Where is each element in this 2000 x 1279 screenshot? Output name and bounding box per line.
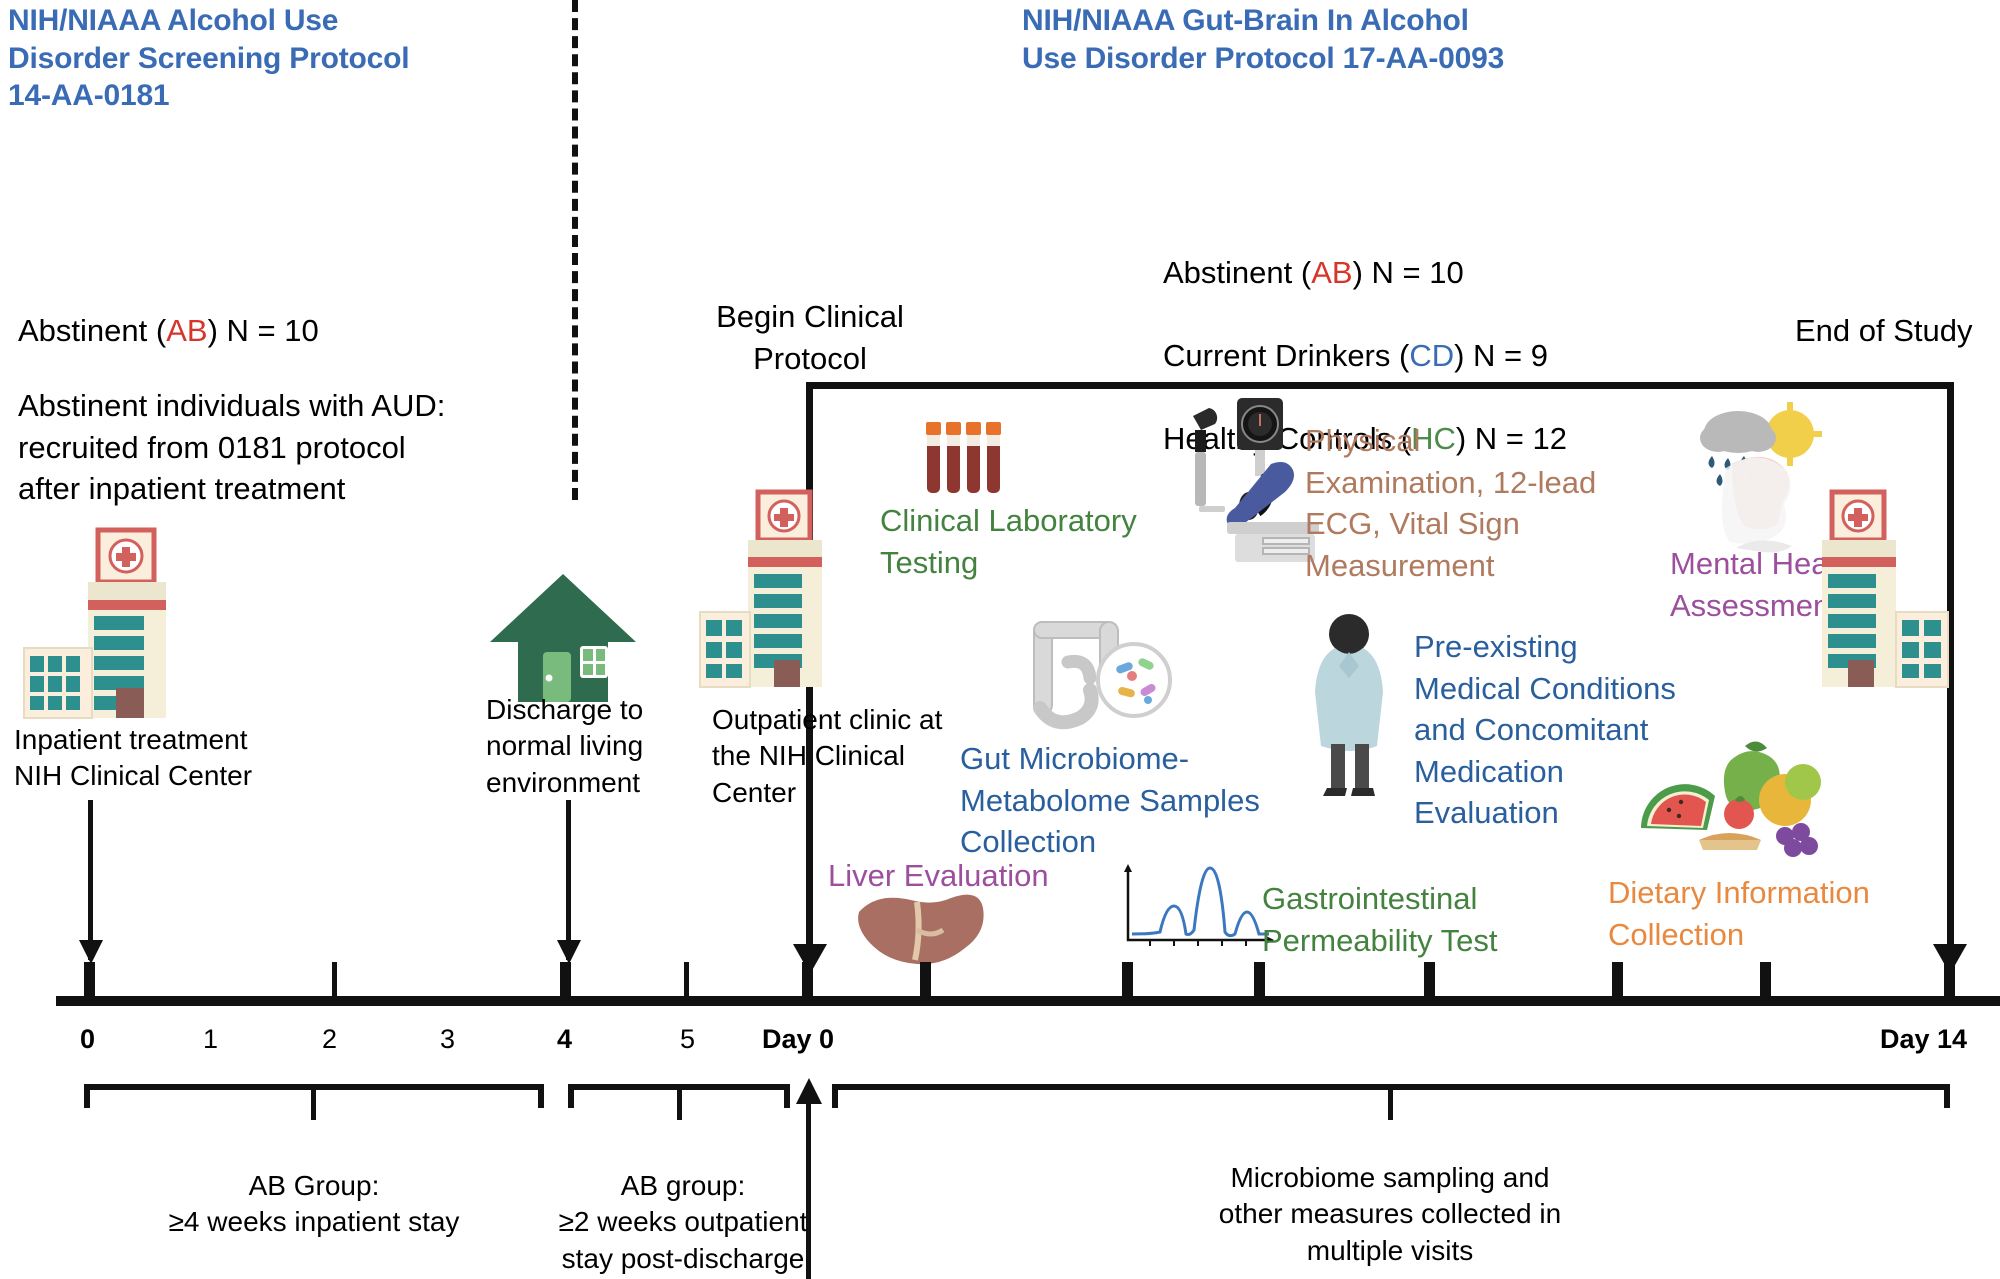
bracket-end-ab-outpatient-right	[784, 1084, 790, 1108]
liver-icon	[855, 890, 985, 970]
axis-tick-minor	[332, 962, 337, 996]
chromatogram-peaks-icon	[1120, 862, 1270, 952]
discharge-arrowhead	[557, 940, 581, 964]
assessment-label-clinical-laboratory-testing: Clinical Laboratory Testing	[880, 500, 1170, 583]
bracket-end-microbiome-left	[832, 1084, 838, 1108]
axis-tick-major	[1424, 962, 1435, 996]
right-protocol-title: NIH/NIAAA Gut-Brain In Alcohol Use Disor…	[1022, 2, 1742, 77]
left-cohort-line: Abstinent (AB) N = 10	[18, 268, 319, 351]
bracket-end-ab-inpatient-left	[84, 1084, 90, 1108]
inpatient-site-label: Inpatient treatment NIH Clinical Center	[14, 722, 344, 795]
bracket-label-microbiome: Microbiome sampling and other measures c…	[1160, 1160, 1620, 1269]
end-of-study-label: End of Study	[1795, 310, 1973, 352]
bracket-label-ab-outpatient: AB group: ≥2 weeks outpatient stay post-…	[540, 1168, 826, 1277]
blood-collection-tubes-icon	[920, 418, 1010, 508]
assessment-label-dietary-information-collection: Dietary Information Collection	[1608, 872, 1928, 955]
cohort-row-ab: Abstinent (AB) N = 10	[1163, 210, 1567, 293]
axis-tick-minor	[684, 962, 689, 996]
ab-tag: AB	[1311, 255, 1352, 290]
cohort-prefix: Abstinent (	[1163, 255, 1311, 290]
cohort-suffix: ) N = 9	[1454, 338, 1548, 373]
assessment-label-gastrointestinal-permeability-test: Gastrointestinal Permeability Test	[1262, 878, 1542, 961]
discharge-site-label: Discharge to normal living environment	[486, 692, 706, 801]
axis-tick-major	[1944, 962, 1955, 996]
axis-tick-major	[920, 962, 931, 996]
hospital-building-icon	[700, 492, 880, 692]
assessment-label-physical-examination: Physical Examination, 12-lead ECG, Vital…	[1305, 420, 1615, 586]
exam-chair-otoscope-icon	[1175, 398, 1325, 563]
bracket-top-bar	[806, 382, 1954, 389]
axis-label-4: 4	[557, 1024, 572, 1055]
left-cohort-suffix: ) N = 10	[208, 313, 319, 348]
left-protocol-description: Abstinent individuals with AUD: recruite…	[18, 385, 578, 510]
fruits-vegetables-icon	[1635, 740, 1825, 860]
bracket-stem-ab-outpatient	[677, 1090, 682, 1120]
discharge-arrow-stem	[566, 800, 571, 960]
hospital-building-icon	[1790, 492, 1968, 692]
hospital-building-icon	[20, 530, 220, 720]
cohort-prefix: Current Drinkers (	[1163, 338, 1409, 373]
axis-label-5: 5	[680, 1024, 695, 1055]
axis-label-day-14: Day 14	[1880, 1024, 1967, 1055]
axis-label-day-0: Day 0	[762, 1024, 834, 1055]
bracket-end-ab-outpatient-left	[568, 1084, 574, 1108]
intestine-microbes-icon	[1022, 608, 1182, 738]
inpatient-arrow-stem	[88, 800, 93, 960]
axis-label-2: 2	[322, 1024, 337, 1055]
axis-tick-major	[1122, 962, 1133, 996]
outpatient-site-label: Outpatient clinic at the NIH Clinical Ce…	[712, 702, 952, 811]
day-0-up-arrowhead	[796, 1078, 822, 1104]
axis-label-1: 1	[203, 1024, 218, 1055]
cd-tag: CD	[1409, 338, 1454, 373]
inpatient-arrowhead	[79, 940, 103, 964]
ab-tag: AB	[166, 313, 207, 348]
bracket-label-ab-inpatient: AB Group: ≥4 weeks inpatient stay	[104, 1168, 524, 1241]
assessment-label-gut-microbiome-metabolome: Gut Microbiome- Metabolome Samples Colle…	[960, 738, 1280, 863]
axis-tick-major	[802, 962, 813, 996]
house-icon	[488, 568, 638, 708]
timeline-axis	[56, 996, 2000, 1006]
bracket-end-microbiome-right	[1944, 1084, 1950, 1108]
cohort-suffix: ) N = 10	[1353, 255, 1464, 290]
begin-clinical-protocol-label: Begin Clinical Protocol	[680, 296, 940, 379]
patient-gown-icon	[1305, 612, 1395, 797]
bracket-stem-ab-inpatient	[311, 1090, 316, 1120]
axis-tick-major	[1254, 962, 1265, 996]
left-cohort-prefix: Abstinent (	[18, 313, 166, 348]
axis-label-3: 3	[440, 1024, 455, 1055]
cohort-row-cd: Current Drinkers (CD) N = 9	[1163, 293, 1567, 376]
axis-label-0: 0	[80, 1024, 95, 1055]
left-protocol-title: NIH/NIAAA Alcohol Use Disorder Screening…	[8, 2, 528, 115]
day-0-up-arrow-stem	[806, 1092, 811, 1279]
axis-tick-major	[1612, 962, 1623, 996]
axis-tick-major	[1760, 962, 1771, 996]
bracket-end-ab-inpatient-right	[538, 1084, 544, 1108]
axis-tick-major	[84, 962, 95, 996]
bracket-stem-microbiome	[1388, 1090, 1393, 1120]
axis-tick-major	[560, 962, 571, 996]
